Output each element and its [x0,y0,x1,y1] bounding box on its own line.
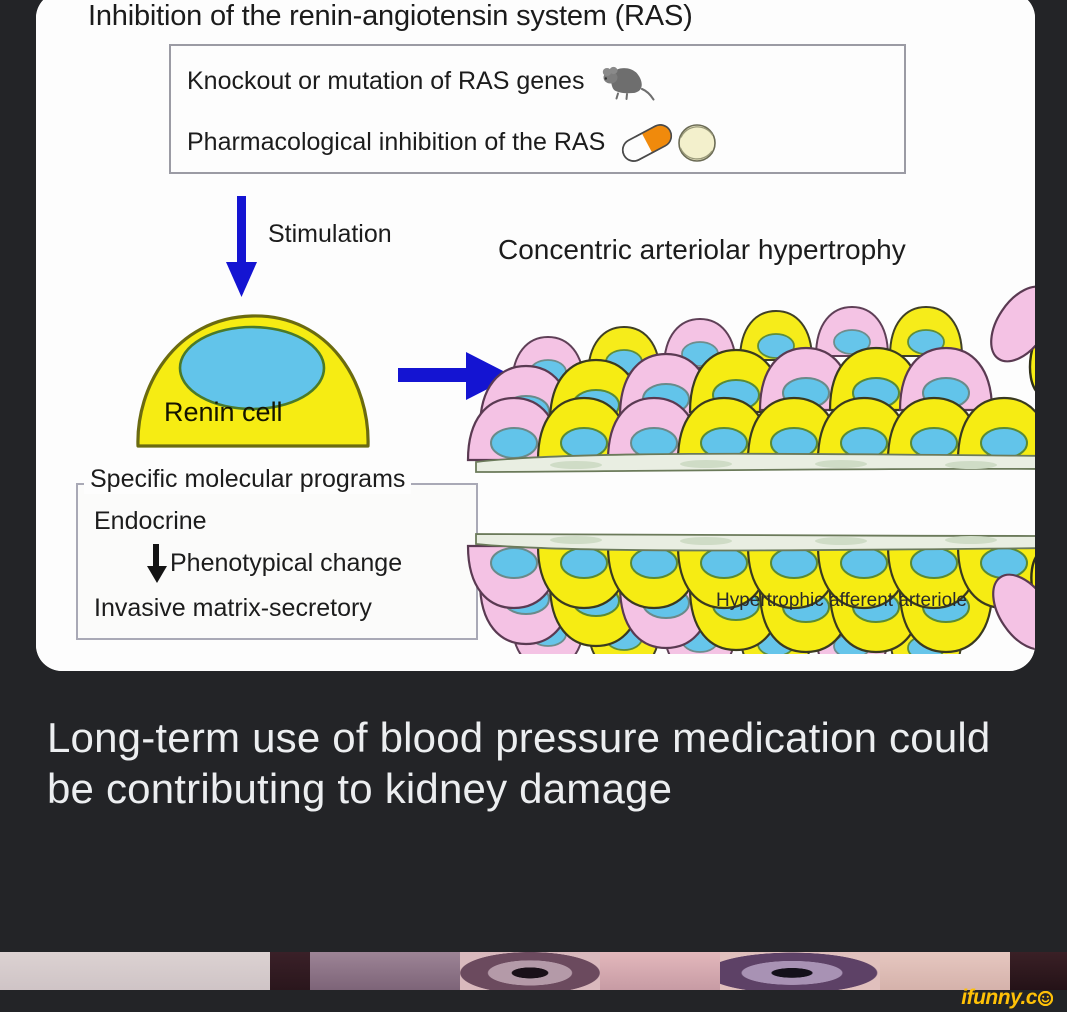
pills-icon [619,121,719,163]
intervention-label-pharmacological: Pharmacological inhibition of the RAS [187,128,605,157]
stimulation-label: Stimulation [268,220,392,249]
invasive-state-label: Invasive matrix-secretory [94,594,372,623]
phenotypical-change-arrow-icon [144,544,170,584]
watermark-text: ifunny.c [961,986,1037,1010]
renin-cell-illustration [134,310,372,450]
intervention-row-knockout: Knockout or mutation of RAS genes [187,58,660,104]
ifunny-post: Inhibition of the renin-angiotensin syst… [0,0,1067,1012]
endocrine-state-label: Endocrine [94,507,207,536]
phenotypical-change-label: Phenotypical change [170,549,402,578]
concentric-hypertrophy-label: Concentric arteriolar hypertrophy [498,234,906,266]
figure-canvas: Inhibition of the renin-angiotensin syst… [36,0,1035,671]
interventions-box: Knockout or mutation of RAS genes [169,44,906,174]
stimulation-arrow-icon [220,196,264,300]
hypertrophic-arteriole-label: Hypertrophic afferent arteriole [716,590,967,612]
smiley-icon [1038,988,1053,1003]
figure-card: Inhibition of the renin-angiotensin syst… [36,0,1035,671]
post-caption: Long-term use of blood pressure medicati… [47,712,1037,814]
intervention-label-knockout: Knockout or mutation of RAS genes [187,67,584,96]
ifunny-watermark: ifunny.c [961,986,1053,1010]
molecular-programs-title: Specific molecular programs [84,465,411,494]
cropped-photo-strip [0,952,1067,990]
renin-cell-label: Renin cell [164,397,283,428]
figure-title: Inhibition of the renin-angiotensin syst… [88,0,693,33]
mouse-icon [598,58,660,104]
intervention-row-pharmacological: Pharmacological inhibition of the RAS [187,121,719,163]
